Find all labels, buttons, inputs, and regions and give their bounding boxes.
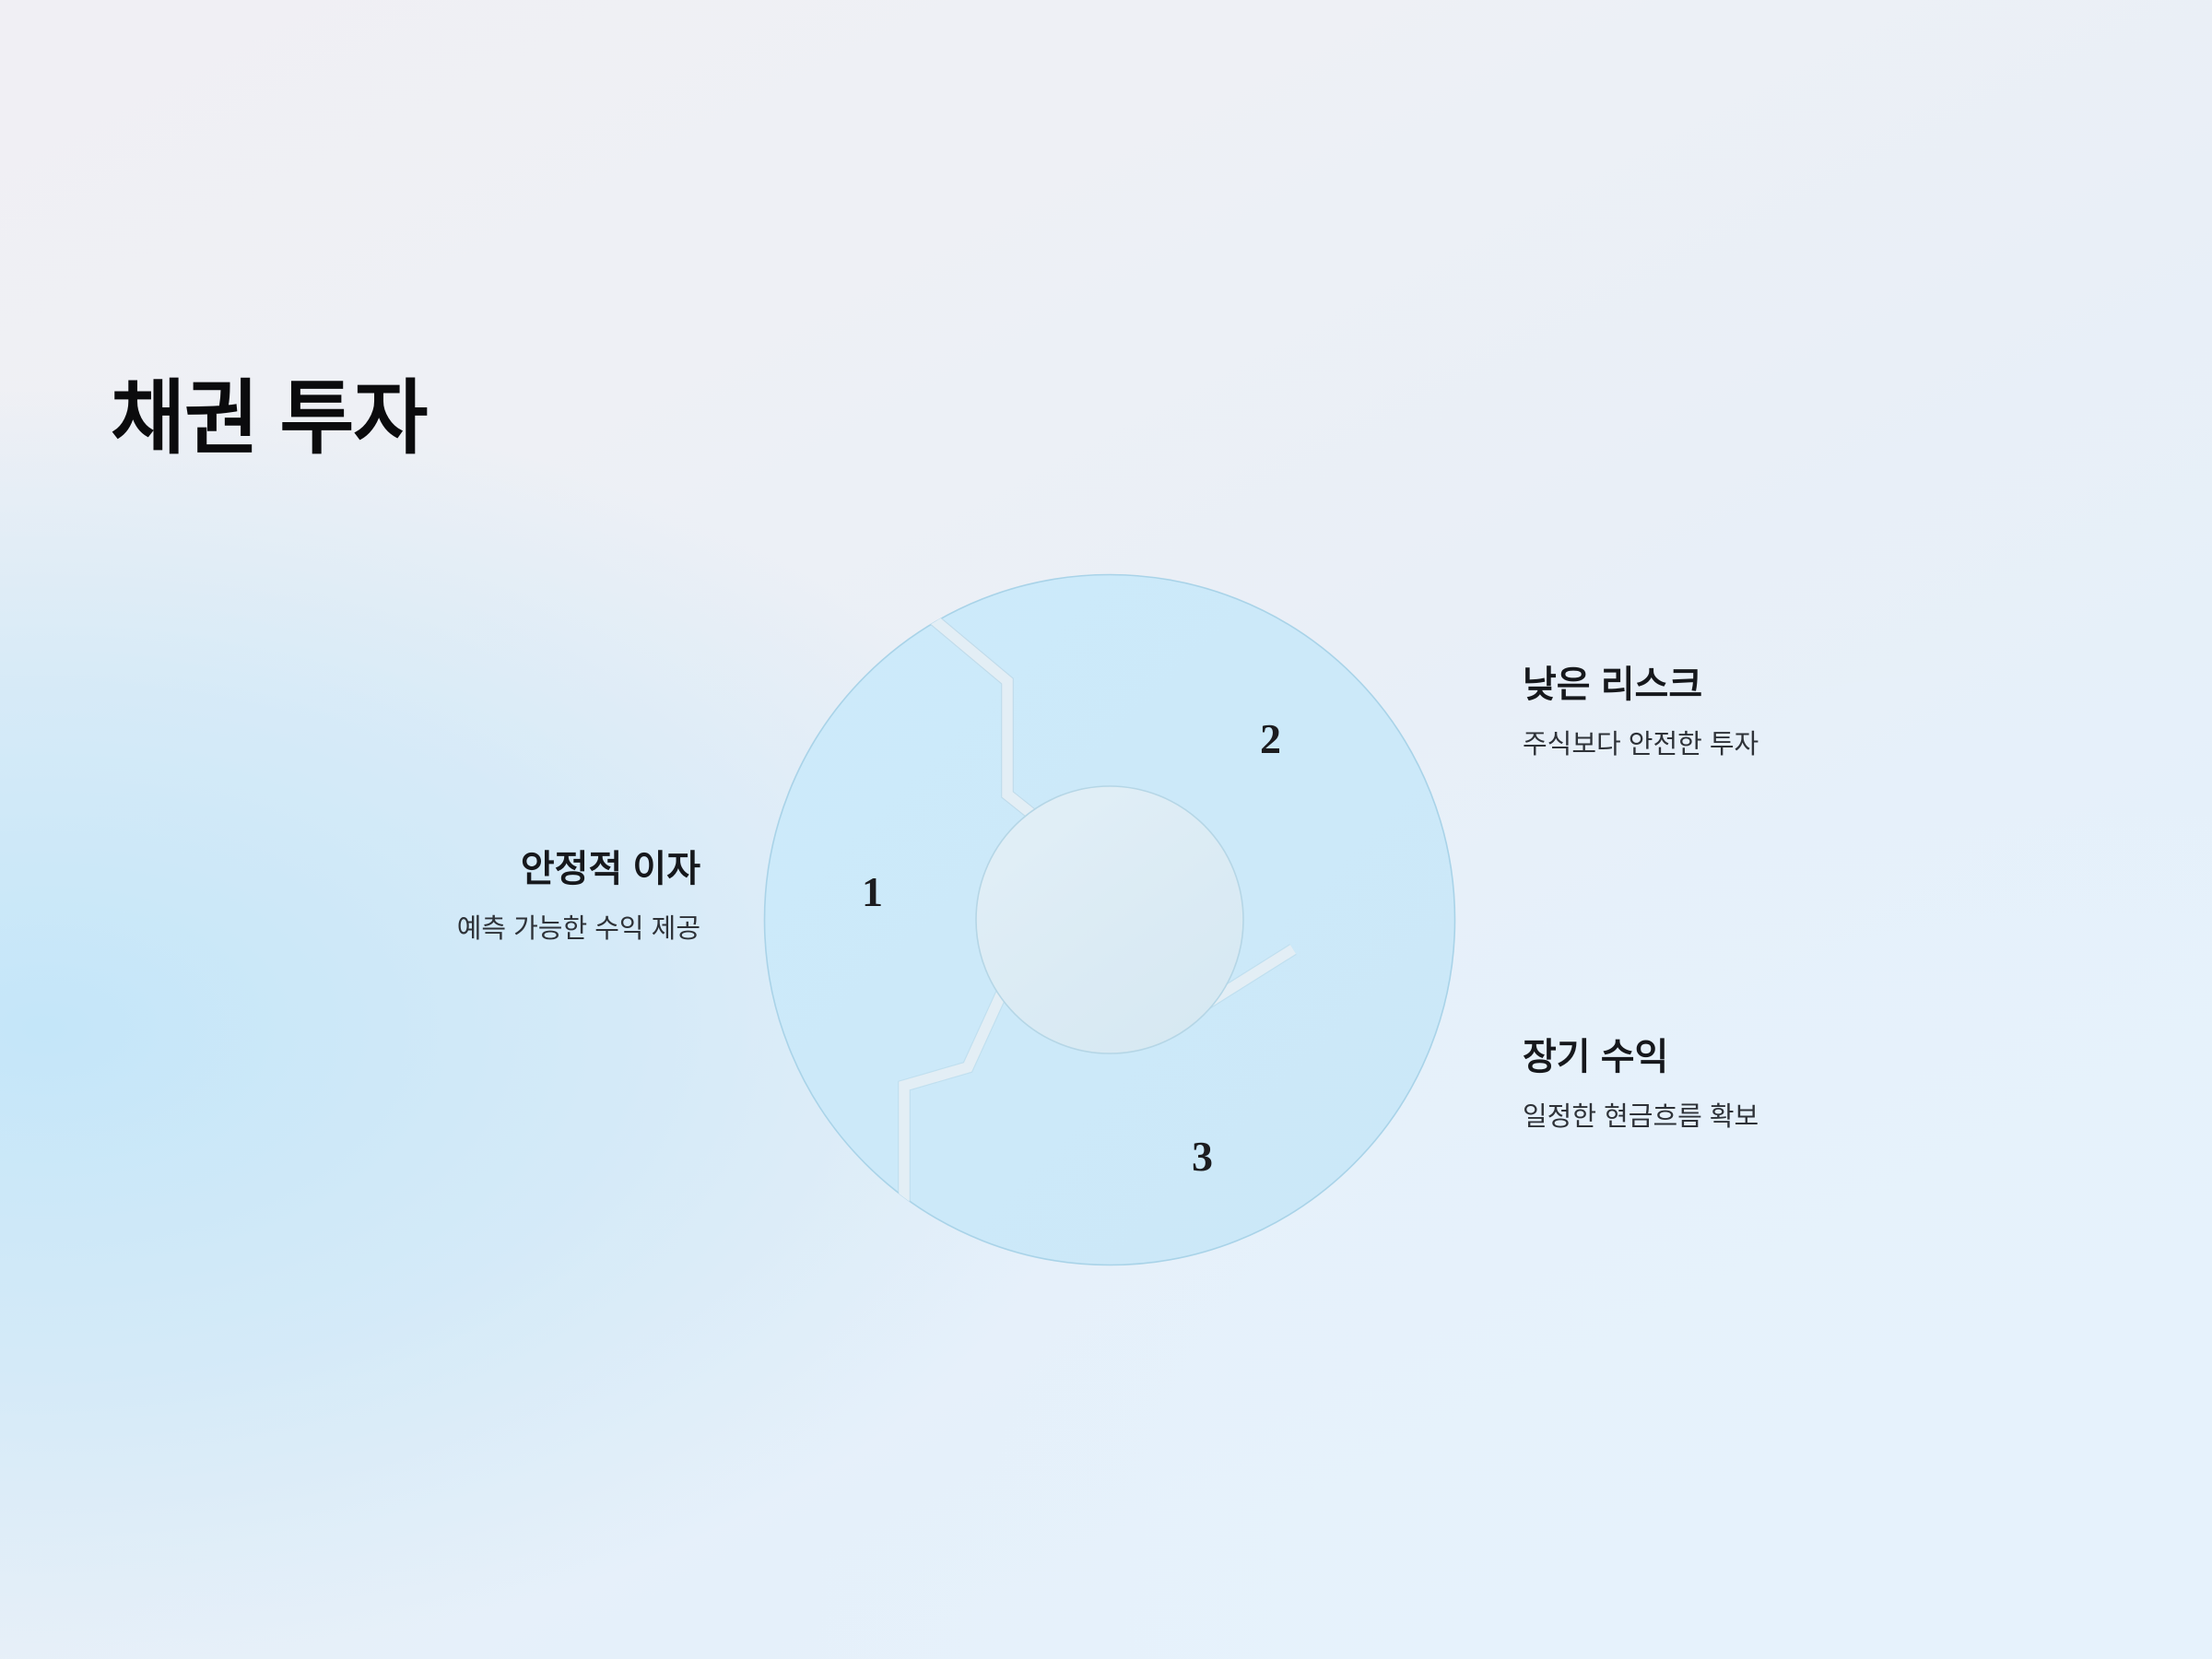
donut-hub (976, 786, 1243, 1053)
page-title: 채권 투자 (111, 373, 427, 465)
donut-chart-svg (763, 573, 1456, 1266)
callout-low-risk-title: 낮은 리스크 (1523, 662, 1759, 708)
callout-stable-interest-description: 예측 가능한 수익 제공 (457, 912, 700, 947)
donut-chart (763, 573, 1456, 1266)
step-number-3: 3 (1192, 1135, 1213, 1178)
step-number-1: 1 (862, 871, 883, 913)
callout-low-risk-description: 주식보다 안전한 투자 (1523, 728, 1759, 763)
callout-long-yield-description: 일정한 현금흐름 확보 (1523, 1100, 1759, 1135)
callout-long-yield-title: 장기 수익 (1523, 1034, 1759, 1080)
callout-low-risk[interactable]: 낮은 리스크 주식보다 안전한 투자 (1523, 662, 1759, 763)
step-number-2: 2 (1260, 718, 1281, 760)
callout-stable-interest[interactable]: 안정적 이자 예측 가능한 수익 제공 (457, 846, 700, 947)
callout-long-yield[interactable]: 장기 수익 일정한 현금흐름 확보 (1523, 1034, 1759, 1135)
callout-stable-interest-title: 안정적 이자 (457, 846, 700, 892)
